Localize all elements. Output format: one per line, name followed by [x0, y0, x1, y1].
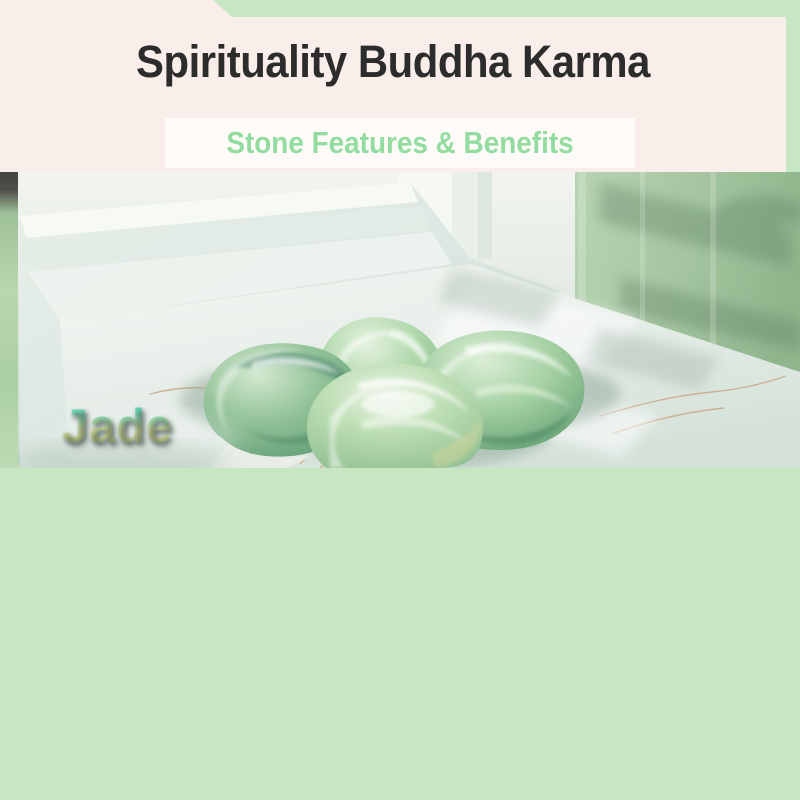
description-section: Jade is regarded as a symbol of power an… [0, 468, 800, 800]
page-subtitle: Stone Features & Benefits [189, 120, 612, 166]
page-title: Spirituality Buddha Karma [28, 36, 759, 88]
infographic-page: Spirituality Buddha Karma Stone Features… [0, 0, 800, 800]
photo-left-edge-strip [0, 172, 18, 468]
stone-name-label: Jade [62, 398, 173, 453]
header-banner: Spirituality Buddha Karma Stone Features… [0, 0, 800, 174]
